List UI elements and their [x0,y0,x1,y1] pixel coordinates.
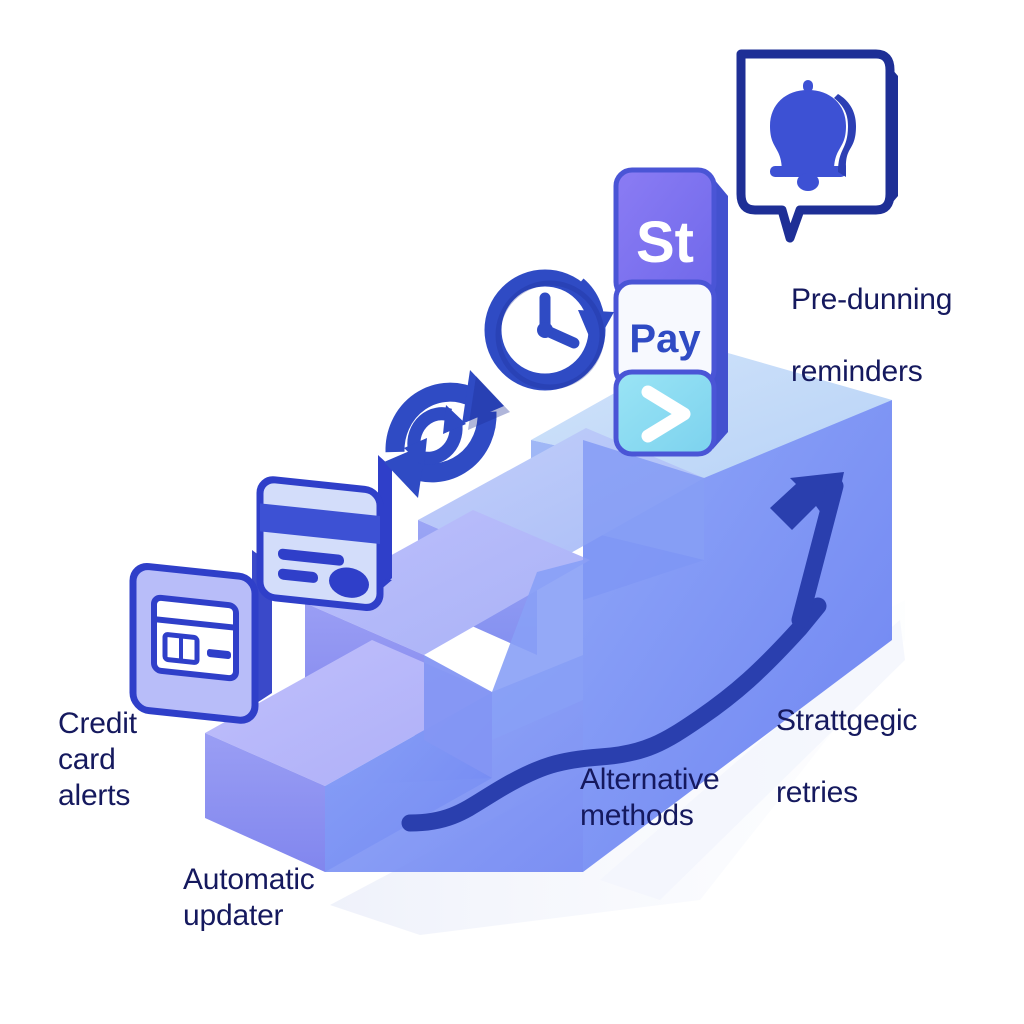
label-pre-dunning-reminders: Pre-dunning reminders [791,246,952,390]
card-chevron [616,372,714,454]
dunning-staircase-illustration: St Pay [0,0,1024,1024]
payment-card-stack: St Pay [616,170,728,454]
bell-notification-icon [741,54,898,238]
pre-dunning-line1: Pre-dunning [791,283,952,316]
card-stripe-text: St [636,210,694,275]
label-automatic-updater: Automatic updater [183,862,315,934]
clock-retry-icon [493,278,614,387]
illustration-canvas: St Pay [0,0,1024,1024]
card-alert-icon [133,543,272,722]
label-strategic-retries-line2: retries [776,776,858,809]
strategic-retries-text: Strattgegic [776,704,917,737]
label-credit-card-alerts: Credit card alerts [58,706,137,814]
card-stripe: St [616,170,714,298]
label-strategic-retries: Strattgegic retries [776,631,917,811]
credit-card-icon [260,455,392,609]
pre-dunning-line2: reminders [791,355,923,388]
label-strategic-retries-line1: Strattgegic [776,667,917,739]
card-pay-text: Pay [629,317,701,361]
label-alternative-methods: Alternative methods [580,762,720,834]
refresh-sync-icon [384,370,510,498]
